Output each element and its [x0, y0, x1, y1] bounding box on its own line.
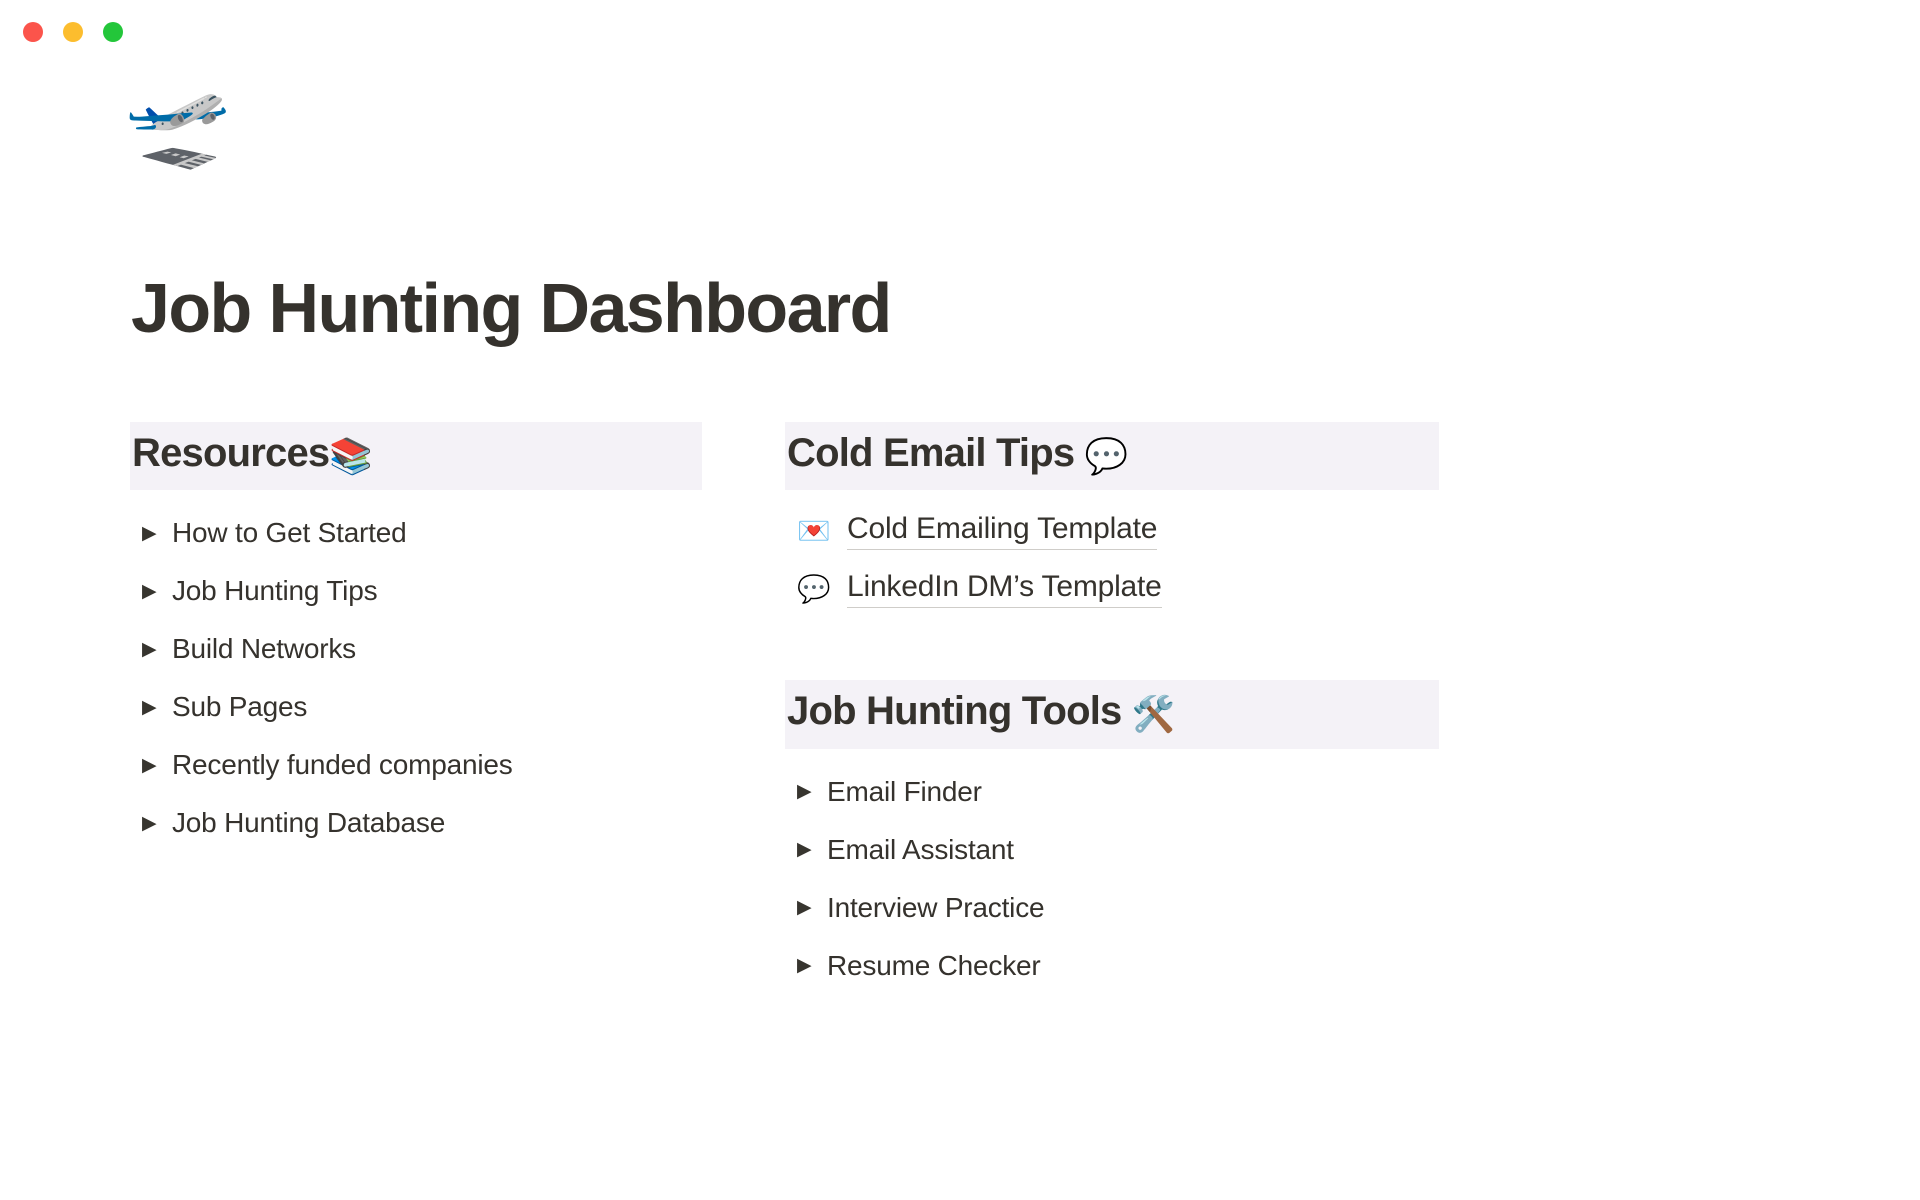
toggle-row-email-finder[interactable]: ▶ Email Finder	[785, 763, 1439, 821]
job-hunting-tools-list: ▶ Email Finder ▶ Email Assistant ▶ Inter…	[785, 763, 1439, 995]
toggle-label: Email Finder	[827, 776, 982, 808]
section-header-job-hunting-tools[interactable]: Job Hunting Tools 🛠️	[785, 680, 1439, 748]
chevron-right-icon[interactable]: ▶	[142, 698, 172, 717]
link-label[interactable]: Cold Emailing Template	[847, 512, 1157, 550]
toggle-row-recently-funded-companies[interactable]: ▶ Recently funded companies	[130, 736, 702, 794]
toggle-row-how-to-get-started[interactable]: ▶ How to Get Started	[130, 504, 702, 562]
toggle-label: Build Networks	[172, 633, 356, 665]
chevron-right-icon[interactable]: ▶	[142, 524, 172, 543]
toggle-row-sub-pages[interactable]: ▶ Sub Pages	[130, 678, 702, 736]
toggle-row-job-hunting-tips[interactable]: ▶ Job Hunting Tips	[130, 562, 702, 620]
toggle-row-email-assistant[interactable]: ▶ Email Assistant	[785, 821, 1439, 879]
link-label[interactable]: LinkedIn DM’s Template	[847, 570, 1162, 608]
chevron-right-icon[interactable]: ▶	[797, 956, 827, 975]
toggle-row-job-hunting-database[interactable]: ▶ Job Hunting Database	[130, 794, 702, 852]
close-button[interactable]	[23, 22, 43, 42]
speech-balloon-icon: 💬	[797, 576, 847, 603]
link-row-linkedin-dms-template[interactable]: 💬 LinkedIn DM’s Template	[785, 560, 1439, 618]
app-window: 🛫 Job Hunting Dashboard Resources📚 ▶ How…	[0, 0, 1920, 1200]
toggle-row-interview-practice[interactable]: ▶ Interview Practice	[785, 879, 1439, 937]
toggle-label: Interview Practice	[827, 892, 1044, 924]
toggle-label: Resume Checker	[827, 950, 1041, 982]
chevron-right-icon[interactable]: ▶	[797, 782, 827, 801]
right-column: Cold Email Tips 💬 💌 Cold Emailing Templa…	[785, 422, 1439, 995]
maximize-button[interactable]	[103, 22, 123, 42]
toggle-label: Sub Pages	[172, 691, 307, 723]
speech-balloon-icon: 💬	[1085, 437, 1128, 476]
airplane-departure-icon[interactable]: 🛫	[124, 80, 231, 166]
window-traffic-lights	[23, 22, 123, 42]
hammer-and-wrench-icon: 🛠️	[1132, 695, 1175, 734]
cold-email-tips-list: 💌 Cold Emailing Template 💬 LinkedIn DM’s…	[785, 502, 1439, 618]
left-column: Resources📚 ▶ How to Get Started ▶ Job Hu…	[130, 422, 702, 852]
section-header-resources[interactable]: Resources📚	[130, 422, 702, 490]
toggle-row-build-networks[interactable]: ▶ Build Networks	[130, 620, 702, 678]
chevron-right-icon[interactable]: ▶	[142, 640, 172, 659]
love-letter-icon: 💌	[797, 518, 847, 545]
chevron-right-icon[interactable]: ▶	[142, 756, 172, 775]
chevron-right-icon[interactable]: ▶	[797, 840, 827, 859]
minimize-button[interactable]	[63, 22, 83, 42]
toggle-label: Job Hunting Tips	[172, 575, 377, 607]
section-header-cold-email-tips[interactable]: Cold Email Tips 💬	[785, 422, 1439, 490]
section-title-job-hunting-tools: Job Hunting Tools	[787, 689, 1132, 733]
resources-list: ▶ How to Get Started ▶ Job Hunting Tips …	[130, 504, 702, 852]
toggle-label: How to Get Started	[172, 517, 407, 549]
page-title[interactable]: Job Hunting Dashboard	[131, 270, 891, 347]
chevron-right-icon[interactable]: ▶	[142, 814, 172, 833]
toggle-label: Recently funded companies	[172, 749, 513, 781]
toggle-row-resume-checker[interactable]: ▶ Resume Checker	[785, 937, 1439, 995]
toggle-label: Job Hunting Database	[172, 807, 445, 839]
window-titlebar	[0, 0, 1920, 62]
link-row-cold-emailing-template[interactable]: 💌 Cold Emailing Template	[785, 502, 1439, 560]
page-content: 🛫 Job Hunting Dashboard Resources📚 ▶ How…	[0, 62, 1920, 1200]
books-icon: 📚	[329, 437, 372, 476]
chevron-right-icon[interactable]: ▶	[797, 898, 827, 917]
section-title-resources: Resources	[132, 431, 329, 475]
chevron-right-icon[interactable]: ▶	[142, 582, 172, 601]
toggle-label: Email Assistant	[827, 834, 1014, 866]
section-title-cold-email-tips: Cold Email Tips	[787, 431, 1085, 475]
